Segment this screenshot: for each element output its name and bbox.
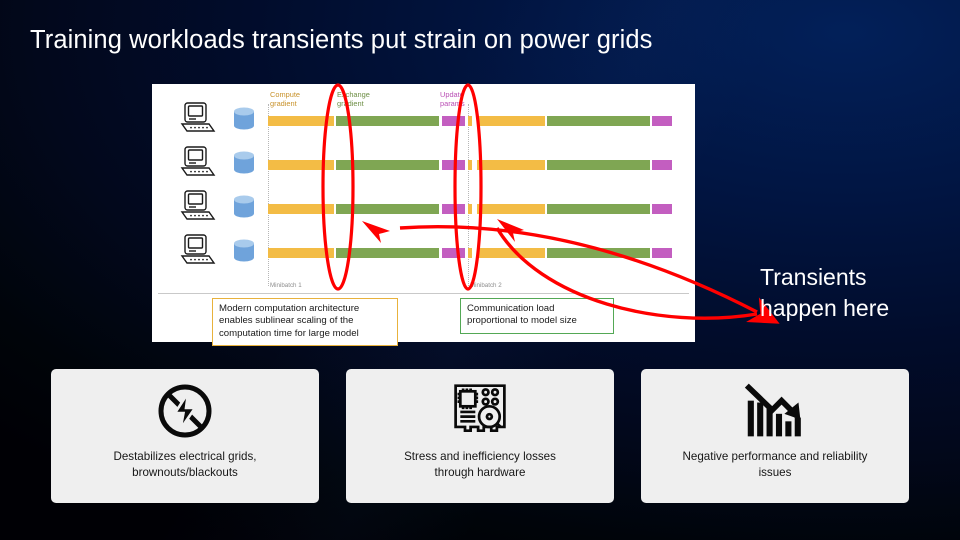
- impact-card-performance[interactable]: Negative performance and reliability iss…: [641, 369, 909, 503]
- impact-card-text: Stress and inefficiency losses through h…: [361, 449, 599, 481]
- bar-compute-gradient: [477, 116, 545, 126]
- impact-card-hardware[interactable]: Stress and inefficiency losses through h…: [346, 369, 614, 503]
- database-icon: [231, 194, 257, 225]
- bar-compute-gradient: [468, 116, 472, 126]
- bar-exchange-gradient: [547, 160, 650, 170]
- bar-exchange-gradient: [336, 160, 439, 170]
- bar-compute-gradient: [468, 160, 472, 170]
- bar-exchange-gradient: [336, 116, 439, 126]
- worker-node-row: [152, 190, 695, 224]
- bar-compute-gradient: [268, 160, 334, 170]
- bar-update-params: [442, 160, 465, 170]
- bar-update-params: [652, 248, 672, 258]
- bar-compute-gradient: [477, 204, 545, 214]
- bar-exchange-gradient: [336, 204, 439, 214]
- bar-compute-gradient: [268, 116, 334, 126]
- callout-line-2: happen here: [760, 293, 889, 324]
- compute-note-box: Modern computation architecture enables …: [212, 298, 398, 346]
- impact-card-text: Negative performance and reliability iss…: [656, 449, 894, 481]
- bar-compute-gradient: [477, 160, 545, 170]
- training-timeline-diagram: Compute gradient Exchange gradient Updat…: [152, 84, 695, 342]
- bar-update-params: [442, 204, 465, 214]
- bar-exchange-gradient: [547, 116, 650, 126]
- computer-icon: [178, 102, 218, 139]
- bar-update-params: [652, 160, 672, 170]
- impact-card-power-grid[interactable]: Destabilizes electrical grids, brownouts…: [51, 369, 319, 503]
- callout-line-1: Transients: [760, 262, 889, 293]
- bar-update-params: [652, 204, 672, 214]
- bar-update-params: [442, 248, 465, 258]
- database-icon: [231, 238, 257, 269]
- bar-exchange-gradient: [336, 248, 439, 258]
- minibatch-label: Minibatch 1: [270, 282, 302, 289]
- bar-compute-gradient: [268, 248, 334, 258]
- communication-note-box: Communication load proportional to model…: [460, 298, 614, 334]
- bar-compute-gradient: [477, 248, 545, 258]
- bar-compute-gradient: [468, 248, 472, 258]
- page-title: Training workloads transients put strain…: [30, 26, 653, 55]
- circuit-board-icon: [450, 380, 510, 442]
- database-icon: [231, 106, 257, 137]
- bar-compute-gradient: [268, 204, 334, 214]
- declining-chart-icon: [744, 380, 806, 442]
- no-power-icon: [155, 380, 215, 442]
- bar-exchange-gradient: [547, 204, 650, 214]
- minibatch-label: Minibatch 2: [470, 282, 502, 289]
- bar-exchange-gradient: [547, 248, 650, 258]
- computer-icon: [178, 234, 218, 271]
- bar-compute-gradient: [468, 204, 472, 214]
- timeline-axis-rule: [158, 293, 689, 294]
- bar-update-params: [652, 116, 672, 126]
- worker-node-row: [152, 234, 695, 268]
- database-icon: [231, 150, 257, 181]
- worker-node-row: [152, 102, 695, 136]
- computer-icon: [178, 146, 218, 183]
- computer-icon: [178, 190, 218, 227]
- impact-card-text: Destabilizes electrical grids, brownouts…: [66, 449, 304, 481]
- transients-callout: Transients happen here: [760, 262, 889, 324]
- bar-update-params: [442, 116, 465, 126]
- worker-node-row: [152, 146, 695, 180]
